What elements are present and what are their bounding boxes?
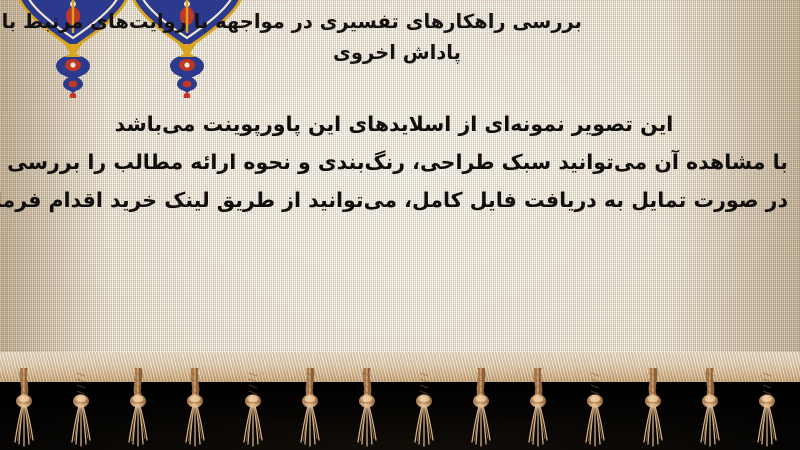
fringe-tassel bbox=[11, 368, 37, 448]
fringe-tassel bbox=[125, 368, 151, 448]
fringe-tassel bbox=[754, 368, 780, 448]
fringe-tassel bbox=[525, 368, 551, 448]
title-line-2: پاداش اخروی bbox=[12, 37, 782, 68]
slide-title: بررسی راهکارهای تفسیری در مواجهه با روای… bbox=[12, 6, 782, 68]
fringe-tassel bbox=[640, 368, 666, 448]
fringe-tassel bbox=[297, 368, 323, 448]
fringe-tassel bbox=[240, 368, 266, 448]
body-line-2: با مشاهده آن می‌توانید سبک طراحی، رنگ‌بن… bbox=[0, 143, 788, 181]
carpet-fringe bbox=[0, 352, 800, 450]
fringe-tassel bbox=[68, 368, 94, 448]
body-line-3: در صورت تمایل به دریافت فایل کامل، می‌تو… bbox=[0, 181, 788, 219]
carpet-selvedge-edge bbox=[0, 352, 800, 382]
fringe-black-backing bbox=[0, 374, 800, 450]
fringe-tassel bbox=[182, 368, 208, 448]
fringe-tassel bbox=[411, 368, 437, 448]
fringe-tassel bbox=[354, 368, 380, 448]
fringe-tassel bbox=[697, 368, 723, 448]
title-line-1: بررسی راهکارهای تفسیری در مواجهه با روای… bbox=[12, 6, 782, 37]
presentation-slide: بررسی راهکارهای تفسیری در مواجهه با روای… bbox=[0, 0, 800, 450]
fringe-tassel bbox=[582, 368, 608, 448]
fringe-tassel bbox=[468, 368, 494, 448]
body-line-1: این تصویر نمونه‌ای از اسلایدهای این پاور… bbox=[0, 105, 788, 143]
slide-body-text: این تصویر نمونه‌ای از اسلایدهای این پاور… bbox=[0, 105, 788, 219]
